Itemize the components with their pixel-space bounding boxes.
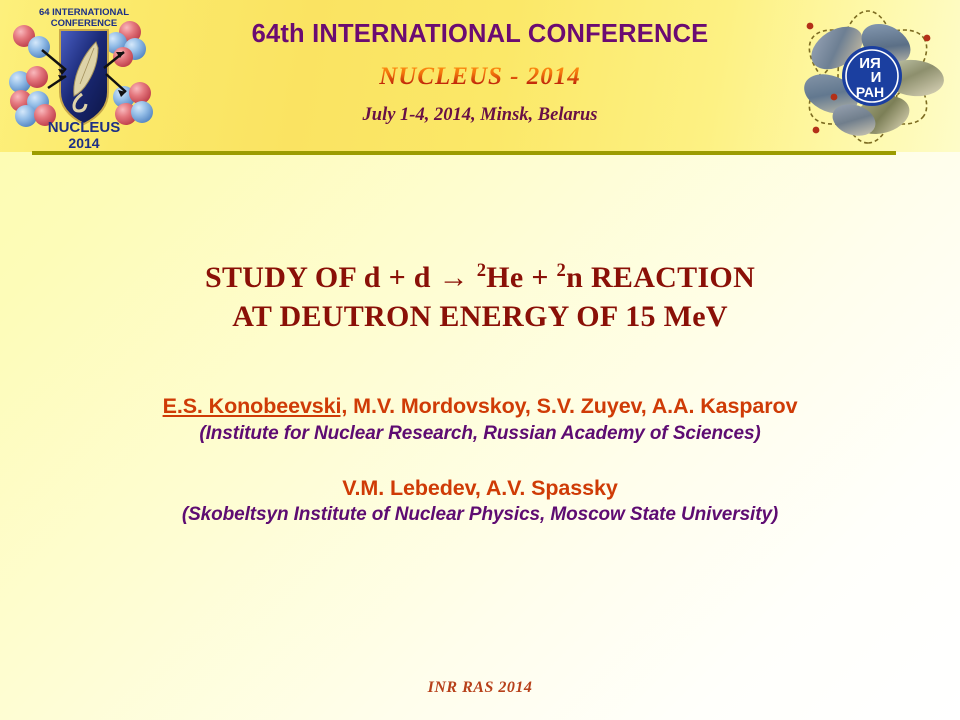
superscript-mass-number-n: 2 bbox=[557, 260, 567, 281]
superscript-mass-number-he: 2 bbox=[477, 260, 487, 281]
electron-dot bbox=[807, 23, 814, 30]
author-group-inr: E.S. Konobeevski, M.V. Mordovskoy, S.V. … bbox=[30, 393, 930, 447]
neutron-sphere bbox=[15, 105, 37, 127]
affiliation-inr: (Institute for Nuclear Research, Russian… bbox=[30, 422, 930, 447]
conference-title: 64th INTERNATIONAL CONFERENCE bbox=[175, 20, 785, 48]
slide-title-line-2: AT DEUTRON ENERGY OF 15 MeV bbox=[60, 297, 900, 336]
logo-left-bottom-text-2: 2014 bbox=[68, 135, 99, 151]
emblem-text-line-3: РАН bbox=[856, 84, 884, 100]
presenting-author-name: E.S. Konobeevski, bbox=[163, 394, 348, 418]
nucleus-2014-logo: 64 INTERNATIONAL CONFERENCE bbox=[4, 2, 164, 152]
author-names-sinp: V.M. Lebedev, A.V. Spassky bbox=[30, 475, 930, 502]
proton-sphere bbox=[26, 66, 48, 88]
author-block: E.S. Konobeevski, M.V. Mordovskoy, S.V. … bbox=[30, 393, 930, 528]
electron-dot bbox=[924, 35, 931, 42]
proton-sphere bbox=[129, 82, 151, 104]
reaction-arrow-glyph: → bbox=[439, 261, 469, 294]
author-names-inr: E.S. Konobeevski, M.V. Mordovskoy, S.V. … bbox=[30, 393, 930, 420]
conference-header-text: 64th INTERNATIONAL CONFERENCE NUCLEUS - … bbox=[175, 20, 785, 126]
slide-title-line-1: STUDY OF d + d → 2He + 2n REACTION bbox=[60, 258, 900, 297]
title-segment-mid: He + bbox=[486, 261, 556, 294]
coauthor-names: M.V. Mordovskoy, S.V. Zuyev, A.A. Kaspar… bbox=[347, 394, 797, 418]
slide-title: STUDY OF d + d → 2He + 2n REACTION AT DE… bbox=[60, 258, 900, 336]
title-spacer bbox=[469, 261, 477, 294]
conference-name: NUCLEUS - 2014 bbox=[175, 63, 785, 91]
logo-left-top-text-1: 64 INTERNATIONAL bbox=[39, 7, 129, 18]
conference-date-location: July 1-4, 2014, Minsk, Belarus bbox=[175, 105, 785, 126]
electron-dot bbox=[813, 127, 820, 134]
affiliation-sinp: (Skobeltsyn Institute of Nuclear Physics… bbox=[30, 503, 930, 528]
inr-ras-logo: ИЯ И РАН bbox=[790, 2, 948, 152]
title-segment-pre: STUDY OF d + d bbox=[205, 261, 439, 294]
slide-footer: INR RAS 2014 bbox=[0, 679, 960, 697]
author-group-sinp: V.M. Lebedev, A.V. Spassky (Skobeltsyn I… bbox=[30, 475, 930, 529]
neutron-sphere bbox=[131, 101, 153, 123]
logo-left-top-text-2: CONFERENCE bbox=[51, 18, 118, 29]
presentation-slide: 64 INTERNATIONAL CONFERENCE bbox=[0, 0, 960, 720]
title-segment-post: n REACTION bbox=[566, 261, 755, 294]
logo-left-bottom-text-1: NUCLEUS bbox=[48, 119, 121, 136]
electron-dot bbox=[831, 94, 838, 101]
